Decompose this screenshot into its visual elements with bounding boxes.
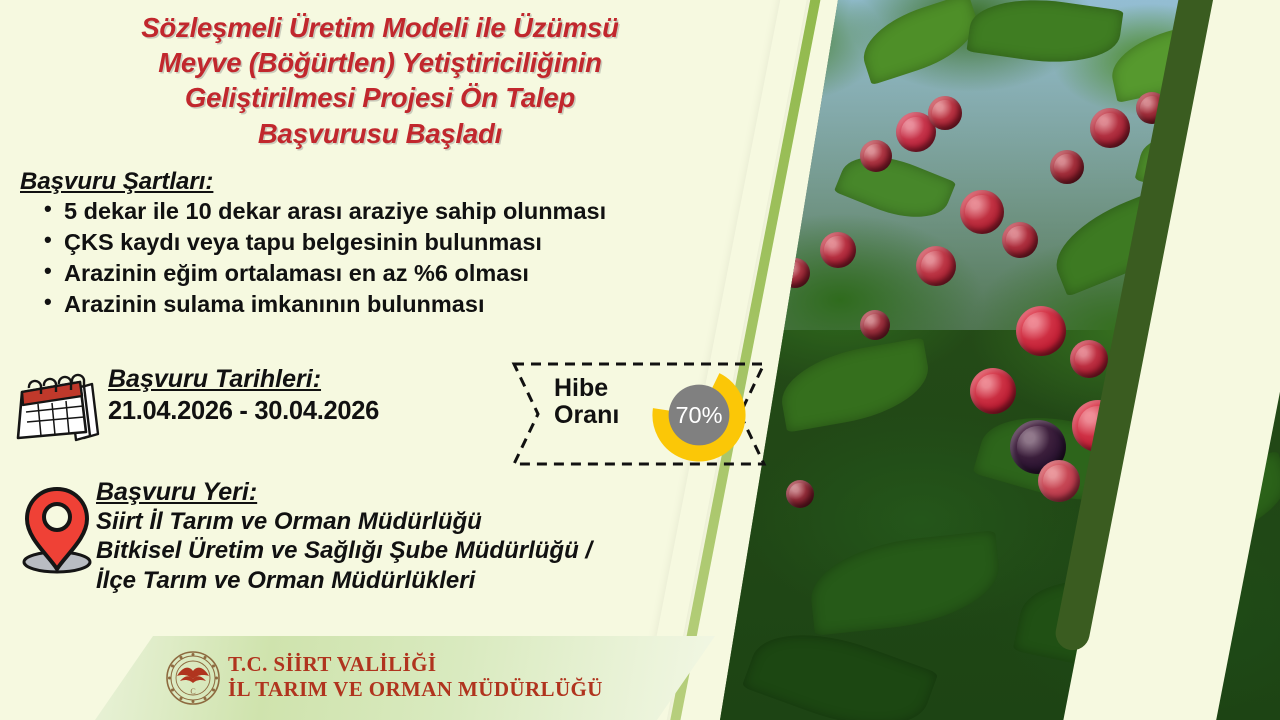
- berry: [916, 246, 956, 286]
- condition-text: Arazinin eğim ortalaması en az %6 olması: [64, 260, 529, 286]
- application-dates-block: Başvuru Tarihleri: 21.04.2026 - 30.04.20…: [108, 365, 379, 426]
- berry: [1038, 460, 1080, 502]
- poster-root: Sözleşmeli Üretim Modeli ile Üzümsü Meyv…: [0, 0, 1280, 720]
- place-line-1: Siirt İl Tarım ve Orman Müdürlüğü: [96, 507, 592, 536]
- berry: [1070, 340, 1108, 378]
- grant-rate-banner: Hibe Oranı 70%: [508, 358, 770, 470]
- berry: [786, 480, 814, 508]
- list-item: 5 dekar ile 10 dekar arası araziye sahip…: [64, 196, 782, 226]
- berry: [970, 368, 1016, 414]
- berry: [928, 96, 962, 130]
- condition-text: 5 dekar ile 10 dekar arası araziye sahip…: [64, 196, 782, 226]
- calendar-icon: [14, 368, 102, 446]
- berry: [960, 190, 1004, 234]
- page-title: Sözleşmeli Üretim Modeli ile Üzümsü Meyv…: [30, 10, 730, 151]
- condition-text: Arazinin sulama imkanının bulunması: [64, 291, 484, 317]
- title-line-4: Başvurusu Başladı: [30, 116, 730, 151]
- berry: [1002, 222, 1038, 258]
- title-line-2: Meyve (Böğürtlen) Yetiştiriciliğinin: [30, 45, 730, 80]
- grant-label-line-1: Hibe: [554, 375, 619, 402]
- footer-line-2: İL TARIM VE ORMAN MÜDÜRLÜĞÜ: [228, 677, 603, 702]
- place-line-2: Bitkisel Üretim ve Sağlığı Şube Müdürlüğ…: [96, 536, 592, 565]
- list-item: Arazinin sulama imkanının bulunması: [64, 289, 782, 319]
- grant-donut-chart: 70%: [650, 366, 748, 464]
- content-column: Sözleşmeli Üretim Modeli ile Üzümsü Meyv…: [0, 0, 790, 720]
- grant-rate-label: Hibe Oranı: [554, 375, 619, 429]
- tc-emblem-icon: C: [165, 650, 221, 706]
- list-item: ÇKS kaydı veya tapu belgesinin bulunması: [64, 227, 782, 257]
- berry: [860, 310, 890, 340]
- dates-heading: Başvuru Tarihleri:: [108, 365, 379, 394]
- conditions-list: 5 dekar ile 10 dekar arası araziye sahip…: [38, 196, 782, 320]
- condition-text: ÇKS kaydı veya tapu belgesinin bulunması: [64, 229, 542, 255]
- footer-line-1: T.C. SİİRT VALİLİĞİ: [228, 652, 603, 677]
- application-place-block: Başvuru Yeri: Siirt İl Tarım ve Orman Mü…: [96, 478, 592, 595]
- svg-text:C: C: [190, 687, 195, 696]
- donut-percent-label: 70%: [675, 402, 722, 428]
- berry: [1016, 306, 1066, 356]
- berry: [1050, 150, 1084, 184]
- list-item: Arazinin eğim ortalaması en az %6 olması: [64, 258, 782, 288]
- berry: [1090, 108, 1130, 148]
- grant-label-line-2: Oranı: [554, 402, 619, 429]
- place-line-3: İlçe Tarım ve Orman Müdürlükleri: [96, 566, 592, 595]
- conditions-heading: Başvuru Şartları:: [20, 168, 213, 196]
- title-line-3: Geliştirilmesi Projesi Ön Talep: [30, 80, 730, 115]
- berry: [820, 232, 856, 268]
- footer-text: T.C. SİİRT VALİLİĞİ İL TARIM VE ORMAN MÜ…: [228, 652, 603, 702]
- title-line-1: Sözleşmeli Üretim Modeli ile Üzümsü: [30, 10, 730, 45]
- berry: [860, 140, 892, 172]
- dates-value: 21.04.2026 - 30.04.2026: [108, 397, 379, 426]
- location-pin-icon: [18, 483, 96, 575]
- place-heading: Başvuru Yeri:: [96, 478, 592, 507]
